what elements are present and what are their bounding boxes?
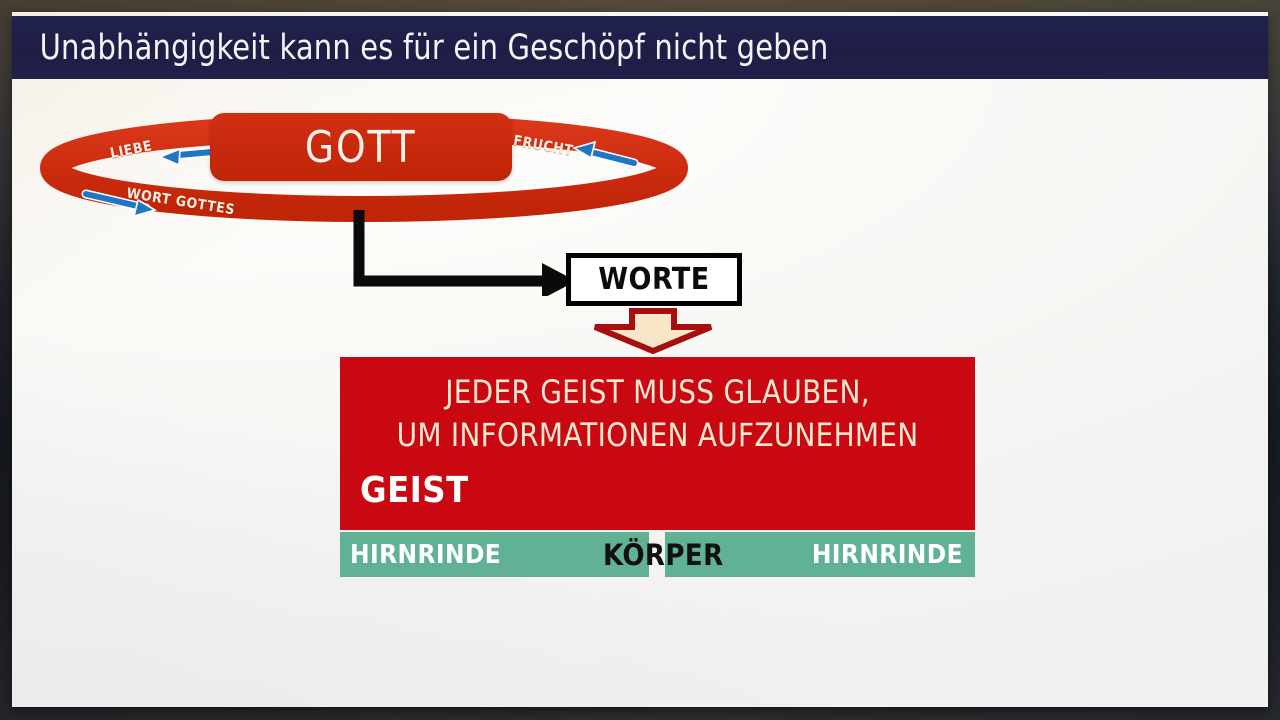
korper-label: KÖRPER — [603, 532, 724, 577]
hirnrinde-right-label: HIRNRINDE — [812, 540, 963, 570]
worte-box: WORTE — [566, 253, 742, 306]
hirnrinde-left-label: HIRNRINDE — [350, 540, 501, 570]
down-arrow-icon — [590, 308, 716, 354]
body-green-bar: HIRNRINDE HIRNRINDE KÖRPER — [340, 532, 975, 577]
geist-word-label: GEIST — [354, 470, 961, 511]
slide-frame: Unabhängigkeit kann es für ein Geschöpf … — [0, 0, 1280, 720]
geist-statement-line-1: JEDER GEIST MUSS GLAUBEN, — [363, 371, 952, 414]
worte-label: WORTE — [598, 262, 710, 297]
page-title: Unabhängigkeit kann es für ein Geschöpf … — [12, 28, 828, 68]
geist-statement-line-2: UM INFORMATIONEN AUFZUNEHMEN — [363, 414, 952, 457]
slide-title-bar: Unabhängigkeit kann es für ein Geschöpf … — [12, 16, 1268, 79]
geist-red-block: JEDER GEIST MUSS GLAUBEN, UM INFORMATION… — [340, 357, 975, 530]
gott-label: GOTT — [305, 122, 417, 173]
elbow-arrow-icon — [342, 204, 582, 296]
arrow-left-icon-frucht — [574, 142, 634, 163]
gott-box: GOTT — [210, 113, 512, 181]
slide-canvas: Unabhängigkeit kann es für ein Geschöpf … — [12, 12, 1268, 707]
